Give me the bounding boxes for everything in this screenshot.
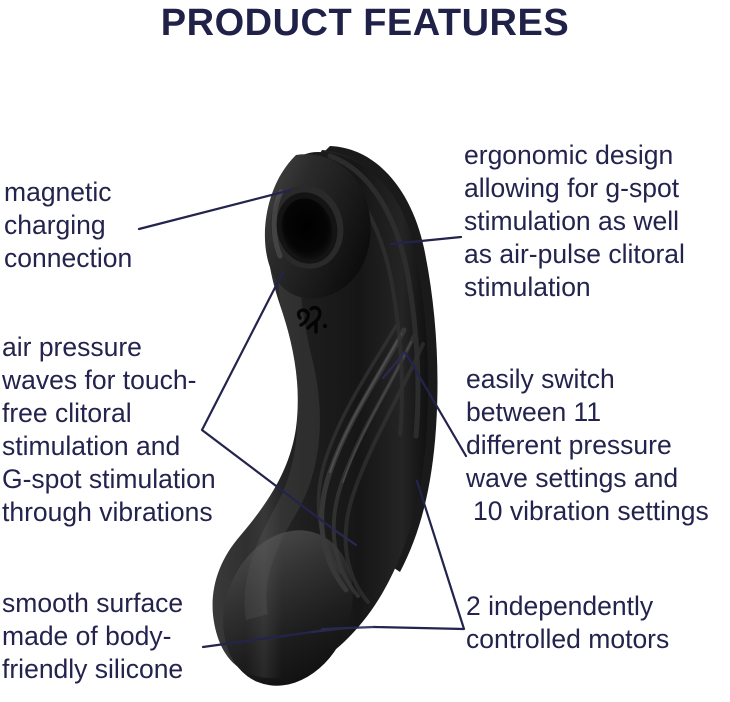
callout-line: through vibrations xyxy=(2,496,216,529)
callout-line: 10 vibration settings xyxy=(466,495,709,528)
callout-line: stimulation and xyxy=(2,430,216,463)
callout-pressure-wave-settings: easily switch between 11 different press… xyxy=(466,363,709,528)
callout-line: easily switch xyxy=(466,363,709,396)
callout-ergonomic-design: ergonomic design allowing for g-spot sti… xyxy=(464,139,685,304)
callout-line: smooth surface xyxy=(2,587,183,620)
callout-independent-motors: 2 independently controlled motors xyxy=(466,590,669,656)
callout-line: wave settings and xyxy=(466,462,709,495)
callout-line: free clitoral xyxy=(2,397,216,430)
callout-line: allowing for g-spot xyxy=(464,172,685,205)
callout-line: different pressure xyxy=(466,429,709,462)
callout-line: connection xyxy=(4,242,132,275)
callout-line: between 11 xyxy=(466,396,709,429)
callout-line: stimulation as well xyxy=(464,205,685,238)
callout-smooth-surface-silicone: smooth surface made of body- friendly si… xyxy=(2,587,183,686)
callout-line: made of body- xyxy=(2,620,183,653)
callout-line: controlled motors xyxy=(466,623,669,656)
callout-line: waves for touch- xyxy=(2,364,216,397)
callout-air-pressure-waves: air pressure waves for touch- free clito… xyxy=(2,331,216,529)
callout-line: friendly silicone xyxy=(2,653,183,686)
callout-line: ergonomic design xyxy=(464,139,685,172)
callout-line: magnetic xyxy=(4,176,132,209)
callout-line: charging xyxy=(4,209,132,242)
product-features-infographic: PRODUCT FEATURES xyxy=(0,0,730,702)
callout-line: stimulation xyxy=(464,271,685,304)
callout-line: 2 independently xyxy=(466,590,669,623)
callout-magnetic-charging-connection: magnetic charging connection xyxy=(4,176,132,275)
callout-line: air pressure xyxy=(2,331,216,364)
callout-line: as air-pulse clitoral xyxy=(464,238,685,271)
callout-line: G-spot stimulation xyxy=(2,463,216,496)
